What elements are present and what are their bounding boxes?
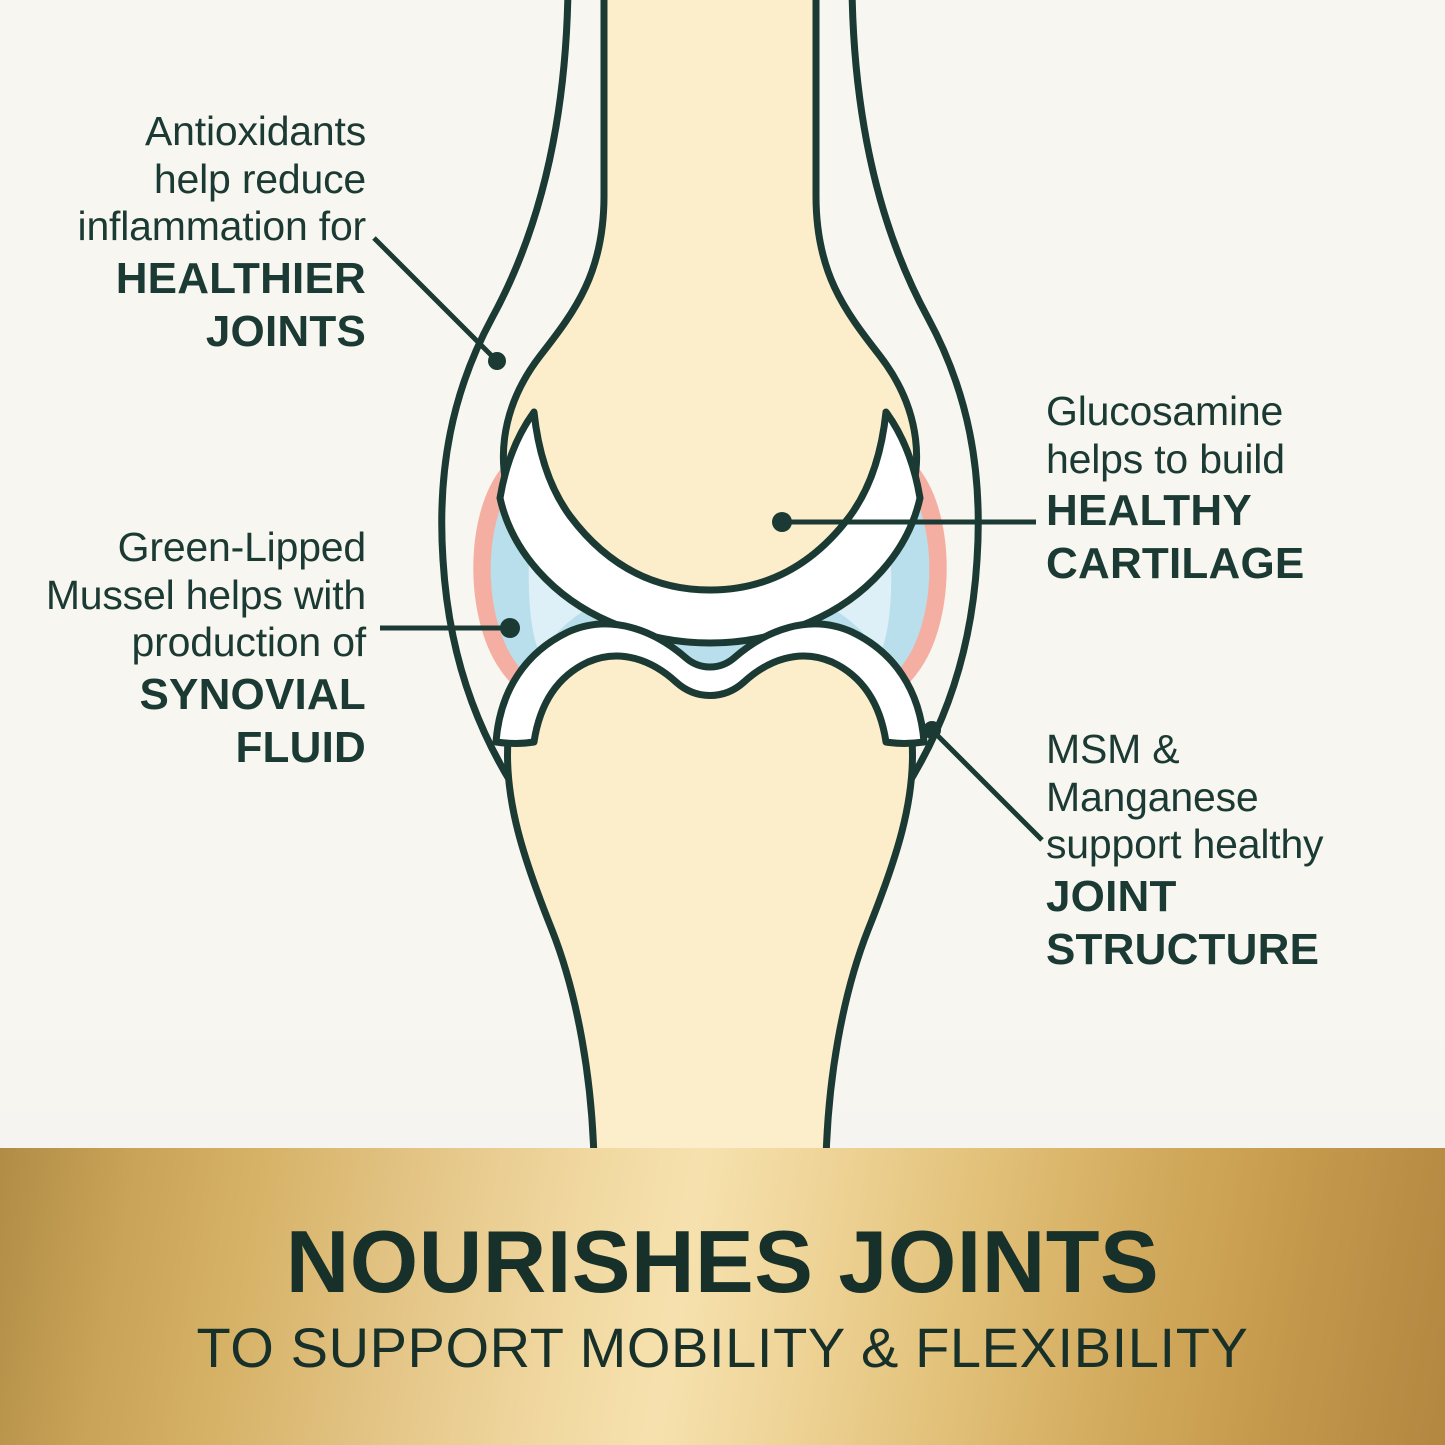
callout-glucosamine-line-1: Glucosamine (1046, 388, 1438, 436)
callout-mussel-emph-1: SYNOVIAL (0, 669, 366, 720)
callout-glucosamine: Glucosamine helps to build HEALTHY CARTI… (1046, 388, 1438, 589)
callout-msm-manganese: MSM & Manganese support healthy JOINT ST… (1046, 726, 1438, 975)
gold-banner: NOURISHES JOINTS TO SUPPORT MOBILITY & F… (0, 1148, 1445, 1445)
callout-msm-line-1: MSM & (1046, 726, 1438, 774)
callout-antioxidants: Antioxidants help reduce inflammation fo… (10, 108, 366, 357)
callout-antioxidants-line-2: help reduce (10, 156, 366, 204)
leader-line-joint-structure (923, 721, 1042, 840)
callout-msm-line-3: support healthy (1046, 821, 1438, 869)
callout-antioxidants-line-1: Antioxidants (10, 108, 366, 156)
callout-mussel-line-3: production of (0, 619, 366, 667)
callout-mussel-line-2: Mussel helps with (0, 572, 366, 620)
callout-msm-emph-2: STRUCTURE (1046, 924, 1438, 975)
leader-line-antioxidants (374, 238, 506, 370)
lower-bone (507, 638, 912, 1160)
callout-msm-line-2: Manganese (1046, 774, 1438, 822)
callout-mussel-line-1: Green-Lipped (0, 524, 366, 572)
infographic-page: Antioxidants help reduce inflammation fo… (0, 0, 1445, 1445)
callout-msm-emph-1: JOINT (1046, 871, 1438, 922)
callout-antioxidants-emph-2: JOINTS (10, 306, 366, 357)
callout-mussel-emph-2: FLUID (0, 722, 366, 773)
callout-antioxidants-emph-1: HEALTHIER (10, 253, 366, 304)
banner-title: NOURISHES JOINTS (286, 1218, 1159, 1306)
callout-glucosamine-emph-2: CARTILAGE (1046, 538, 1438, 589)
callout-glucosamine-emph-1: HEALTHY (1046, 485, 1438, 536)
callout-glucosamine-line-2: helps to build (1046, 436, 1438, 484)
callout-antioxidants-line-3: inflammation for (10, 203, 366, 251)
callout-green-lipped-mussel: Green-Lipped Mussel helps with productio… (0, 524, 366, 773)
banner-subtitle: TO SUPPORT MOBILITY & FLEXIBILITY (197, 1320, 1249, 1376)
